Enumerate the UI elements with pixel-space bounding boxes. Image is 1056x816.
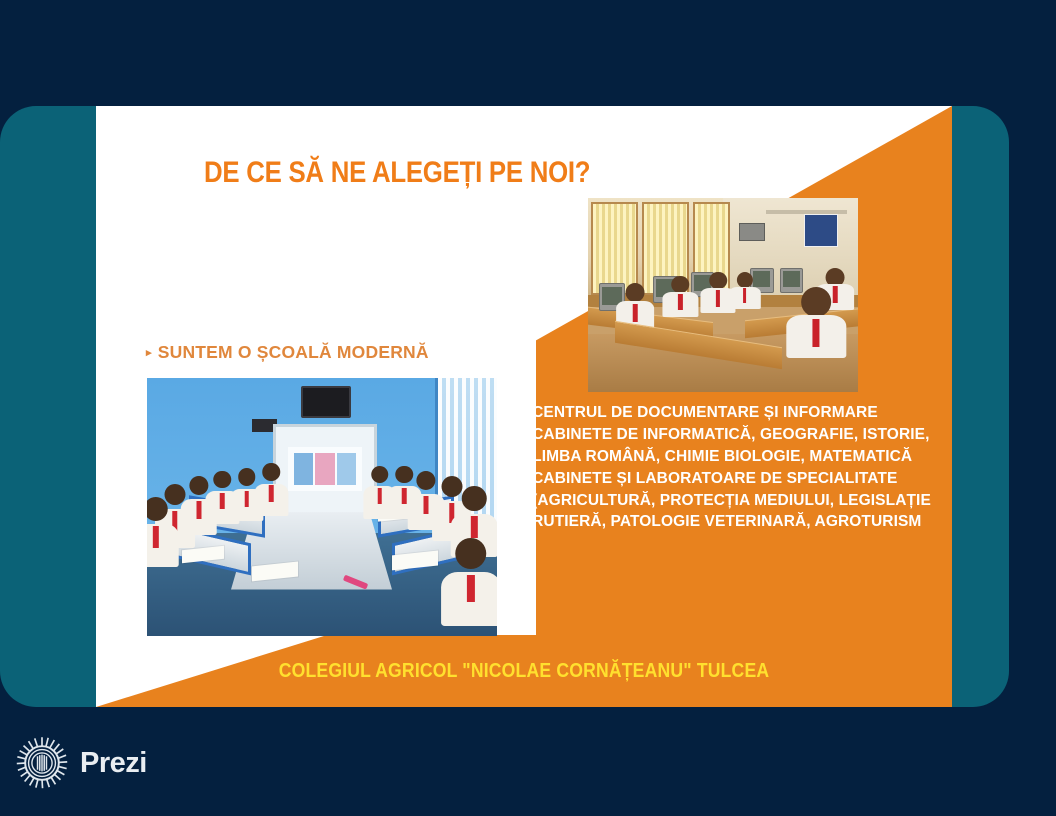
school-name-caption: COLEGIUL AGRICOL "NICOLAE CORNĂȚEANU" TU… bbox=[147, 660, 900, 683]
left-heading-label: SUNTEM O ȘCOALĂ MODERNĂ bbox=[158, 342, 429, 363]
prezi-sunburst-icon bbox=[14, 735, 70, 791]
left-heading: ▸ SUNTEM O ȘCOALĂ MODERNĂ bbox=[146, 342, 429, 363]
computer-lab-photo bbox=[588, 198, 858, 392]
list-item-label: CENTRUL DE DOCUMENTARE ȘI INFORMARE bbox=[532, 402, 936, 423]
feature-bullet-list: ▸ CENTRUL DE DOCUMENTARE ȘI INFORMARE ▸ … bbox=[524, 402, 936, 533]
list-item: ▸ CABINETE DE INFORMATICĂ, GEOGRAFIE, IS… bbox=[524, 424, 936, 467]
bullet-triangle-icon: ▸ bbox=[524, 468, 529, 484]
presentation-stage: DE CE SĂ NE ALEGEȚI PE NOI? bbox=[0, 0, 1056, 816]
list-item-label: CABINETE ȘI LABORATOARE DE SPECIALITATE … bbox=[532, 468, 936, 532]
classroom-photo bbox=[147, 378, 497, 636]
prezi-wordmark: Prezi bbox=[80, 747, 147, 780]
bullet-triangle-icon: ▸ bbox=[524, 402, 529, 418]
bullet-triangle-icon: ▸ bbox=[146, 348, 152, 359]
list-item-label: CABINETE DE INFORMATICĂ, GEOGRAFIE, ISTO… bbox=[532, 424, 936, 467]
list-item: ▸ CENTRUL DE DOCUMENTARE ȘI INFORMARE bbox=[524, 402, 936, 423]
slide-title: DE CE SĂ NE ALEGEȚI PE NOI? bbox=[204, 156, 590, 190]
list-item: ▸ CABINETE ȘI LABORATOARE DE SPECIALITAT… bbox=[524, 468, 936, 532]
bullet-triangle-icon: ▸ bbox=[524, 424, 529, 440]
slide-canvas: DE CE SĂ NE ALEGEȚI PE NOI? bbox=[96, 106, 952, 707]
prezi-logo[interactable]: Prezi bbox=[14, 735, 147, 791]
